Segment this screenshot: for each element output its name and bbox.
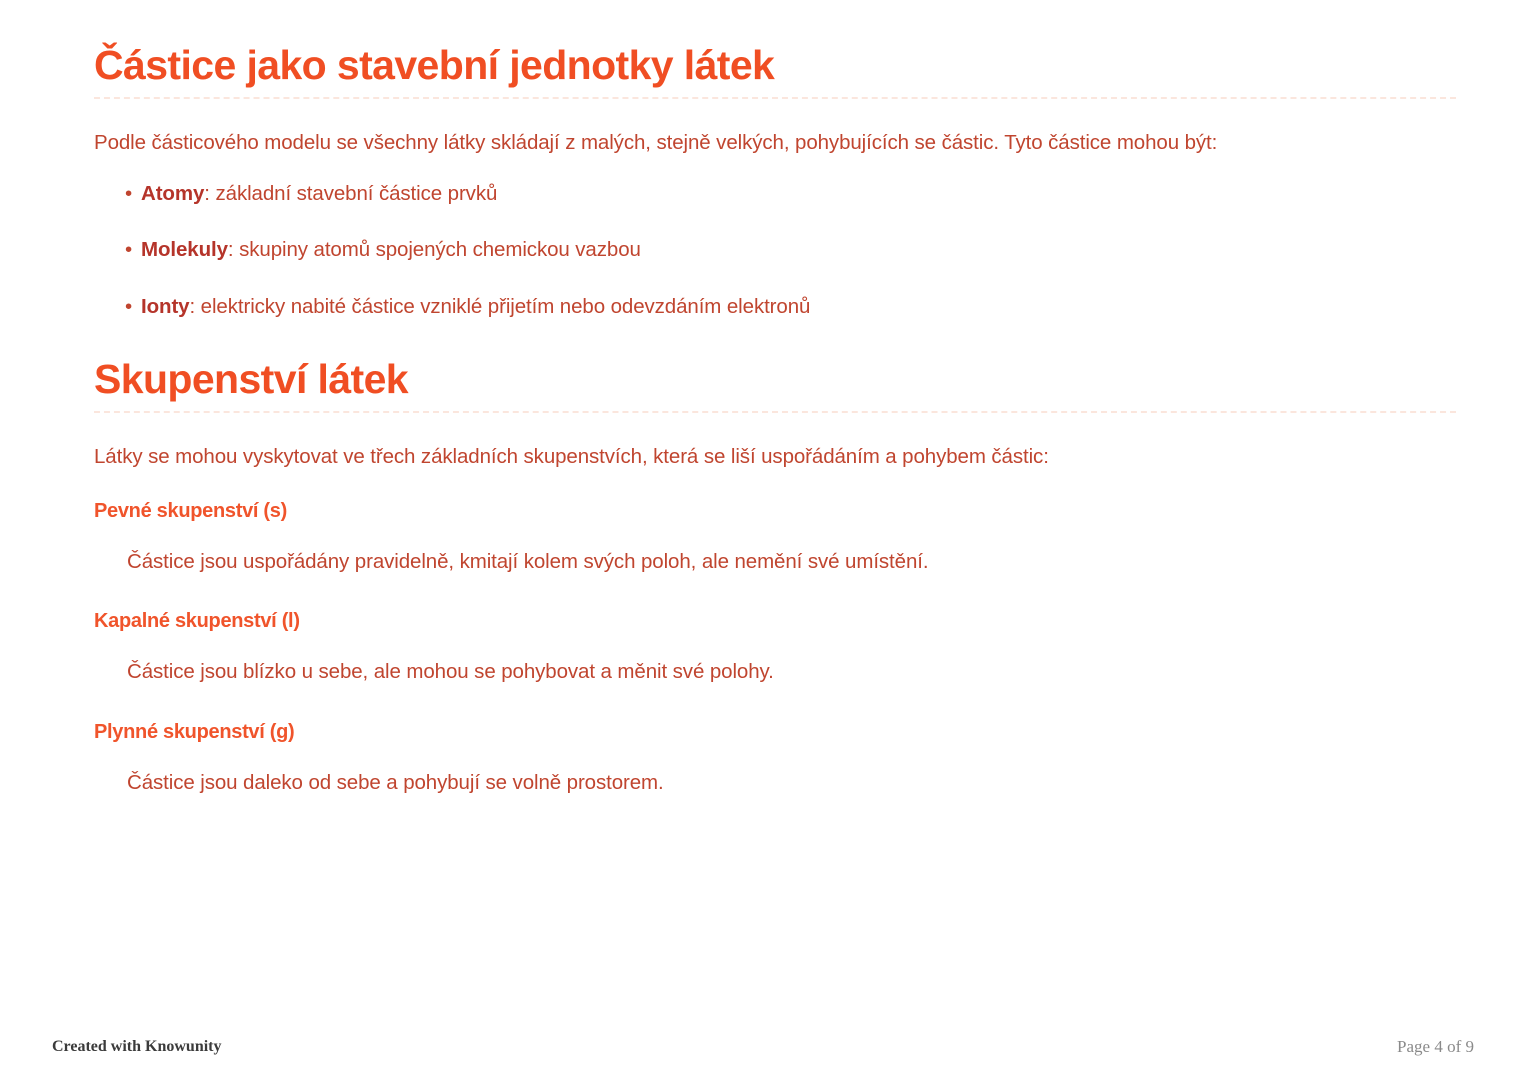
bullet-marker-icon: • <box>125 180 132 209</box>
section-intro-paragraph: Podle částicového modelu se všechny látk… <box>94 99 1456 158</box>
state-solid-title: Pevné skupenství (s) <box>94 472 1456 523</box>
state-gas-description: Částice jsou daleko od sebe a pohybují s… <box>94 744 1456 798</box>
list-item-term: Atomy <box>141 182 204 205</box>
section-particles: Částice jako stavební jednotky látek Pod… <box>94 0 1456 322</box>
bullet-marker-icon: • <box>125 293 132 322</box>
state-solid-description: Částice jsou uspořádány pravidelně, kmit… <box>94 523 1456 577</box>
state-gas: Plynné skupenství (g) Částice jsou dalek… <box>94 687 1456 798</box>
state-solid: Pevné skupenství (s) Částice jsou uspořá… <box>94 472 1456 577</box>
page-number: Page 4 of 9 <box>1397 1037 1474 1057</box>
list-item-content: Molekuly: skupiny atomů spojených chemic… <box>141 236 641 265</box>
section-heading-particles: Částice jako stavební jednotky látek <box>94 44 1456 87</box>
section-heading-states: Skupenství látek <box>94 358 1456 401</box>
list-item: • Atomy: základní stavební částice prvků <box>94 180 1456 209</box>
bullet-marker-icon: • <box>125 236 132 265</box>
list-item: • Ionty: elektricky nabité částice vznik… <box>94 293 1456 322</box>
states-intro-paragraph: Látky se mohou vyskytovat ve třech zákla… <box>94 413 1456 472</box>
particle-types-list: • Atomy: základní stavební částice prvků… <box>94 158 1456 322</box>
list-item-term: Ionty <box>141 295 189 318</box>
list-item-text: skupiny atomů spojených chemickou vazbou <box>239 238 641 261</box>
section-heading-block: Částice jako stavební jednotky látek <box>94 0 1456 99</box>
list-item-separator: : <box>189 295 200 318</box>
page-content: Částice jako stavební jednotky látek Pod… <box>94 0 1456 798</box>
state-liquid-description: Částice jsou blízko u sebe, ale mohou se… <box>94 633 1456 687</box>
state-gas-title: Plynné skupenství (g) <box>94 687 1456 744</box>
list-item-content: Ionty: elektricky nabité částice vzniklé… <box>141 293 810 322</box>
list-item-term: Molekuly <box>141 238 228 261</box>
section-states-of-matter: Skupenství látek Látky se mohou vyskytov… <box>94 322 1456 798</box>
list-item: • Molekuly: skupiny atomů spojených chem… <box>94 236 1456 265</box>
list-item-separator: : <box>228 238 239 261</box>
list-item-text: elektricky nabité částice vzniklé přijet… <box>201 295 811 318</box>
list-item-content: Atomy: základní stavební částice prvků <box>141 180 497 209</box>
list-item-separator: : <box>204 182 215 205</box>
section-heading-block: Skupenství látek <box>94 322 1456 413</box>
state-liquid: Kapalné skupenství (l) Částice jsou blíz… <box>94 576 1456 687</box>
document-page: Částice jako stavební jednotky látek Pod… <box>0 0 1527 1080</box>
page-footer: Created with Knowunity Page 4 of 9 <box>0 1032 1527 1062</box>
list-item-text: základní stavební částice prvků <box>216 182 498 205</box>
created-with-credit: Created with Knowunity <box>52 1038 222 1056</box>
state-liquid-title: Kapalné skupenství (l) <box>94 576 1456 633</box>
